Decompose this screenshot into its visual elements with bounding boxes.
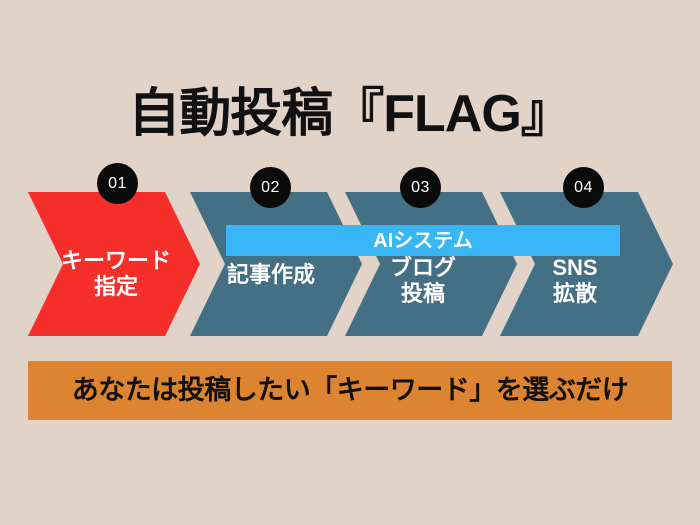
step-badge-4: 04 [563,167,604,208]
step-badge-1: 01 [97,163,138,204]
slide-canvas: 自動投稿『FLAG』 キーワード 指定 記事作成 ブログ 投稿 SNS 拡散 A… [0,0,700,525]
callout-banner-text: あなたは投稿したい「キーワード」を選ぶだけ [72,377,629,404]
step-badge-1-number: 01 [108,176,127,192]
chevron-step-3-label: ブログ 投稿 [348,255,498,307]
ai-system-bar-label: AIシステム [373,231,472,251]
chevron-step-2-label: 記事作成 [196,262,346,288]
process-flow: キーワード 指定 記事作成 ブログ 投稿 SNS 拡散 AIシステム 01 02… [0,0,700,525]
step-badge-4-number: 04 [574,180,593,196]
step-badge-2-number: 02 [261,180,280,196]
step-badge-3: 03 [400,167,441,208]
ai-system-bar: AIシステム [226,225,620,256]
callout-banner: あなたは投稿したい「キーワード」を選ぶだけ [28,361,672,420]
step-badge-2: 02 [250,167,291,208]
chevron-step-4-label: SNS 拡散 [500,255,650,307]
chevron-step-1-label: キーワード 指定 [36,248,196,300]
step-badge-3-number: 03 [411,180,430,196]
